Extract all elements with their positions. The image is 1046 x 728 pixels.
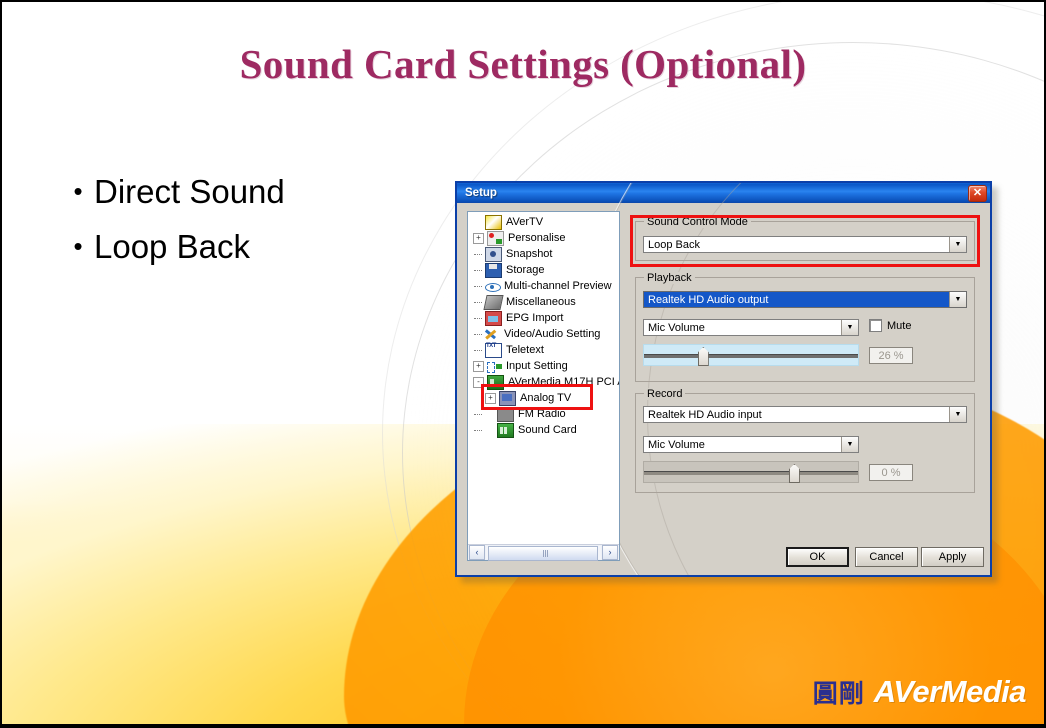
bullet-text: Loop Back: [94, 229, 250, 265]
expander-icon[interactable]: +: [473, 233, 484, 244]
tree-item-storage[interactable]: Storage: [470, 262, 619, 278]
dialog-titlebar[interactable]: Setup ✕: [457, 183, 990, 203]
settings-tree-panel[interactable]: AVerTV + Personalise Snapshot: [467, 211, 620, 561]
group-label: Playback: [644, 272, 695, 284]
slider-track: [644, 354, 858, 358]
chevron-down-icon[interactable]: ▼: [841, 437, 858, 452]
dialog-body: AVerTV + Personalise Snapshot: [457, 203, 990, 577]
scrollbar-thumb[interactable]: [488, 546, 598, 561]
mute-checkbox[interactable]: [869, 319, 882, 332]
settings-tree[interactable]: AVerTV + Personalise Snapshot: [468, 212, 619, 544]
tree-item-label: Snapshot: [506, 248, 552, 260]
logo-chinese-text: 圓剛: [813, 674, 865, 710]
record-channel-dropdown[interactable]: Mic Volume ▼: [643, 436, 859, 453]
apply-button[interactable]: Apply: [921, 547, 984, 567]
chevron-down-icon[interactable]: ▼: [949, 407, 966, 422]
dropdown-value: Mic Volume: [644, 439, 841, 451]
avertv-icon: [485, 215, 502, 230]
chevron-down-icon[interactable]: ▼: [949, 292, 966, 307]
avermedia-logo: 圓剛 AVerMedia: [813, 674, 1026, 710]
personalise-icon: [487, 231, 504, 246]
tree-item-label: Storage: [506, 264, 545, 276]
mute-checkbox-row[interactable]: Mute: [869, 319, 911, 332]
sound-card-icon: [497, 423, 514, 438]
list-item: • Direct Sound: [62, 174, 442, 210]
playback-volume-slider[interactable]: [643, 344, 859, 366]
slide-canvas: Sound Card Settings (Optional) • Direct …: [2, 2, 1044, 724]
sound-card-highlight-box: [481, 384, 593, 410]
snapshot-icon: [485, 247, 502, 262]
ok-button[interactable]: OK: [786, 547, 849, 567]
tree-item-sound-card[interactable]: Sound Card: [470, 422, 619, 438]
group-label: Record: [644, 388, 685, 400]
tree-item-label: AVerTV: [506, 216, 543, 228]
close-icon[interactable]: ✕: [968, 185, 987, 202]
record-device-dropdown[interactable]: Realtek HD Audio input ▼: [643, 406, 967, 423]
storage-icon: [485, 263, 502, 278]
playback-device-dropdown[interactable]: Realtek HD Audio output ▼: [643, 291, 967, 308]
teletext-icon: [485, 343, 502, 358]
tree-item-video-audio-setting[interactable]: Video/Audio Setting: [470, 326, 619, 342]
dropdown-value: Mic Volume: [644, 322, 841, 334]
scrollbar-track[interactable]: [486, 546, 601, 559]
tree-item-snapshot[interactable]: Snapshot: [470, 246, 619, 262]
slider-thumb[interactable]: [789, 464, 800, 483]
tree-horizontal-scrollbar[interactable]: ‹ ›: [468, 544, 619, 560]
dialog-title: Setup: [465, 187, 497, 199]
scroll-left-icon[interactable]: ‹: [469, 545, 485, 560]
tree-item-multi-channel-preview[interactable]: Multi-channel Preview: [470, 278, 619, 294]
page-title: Sound Card Settings (Optional): [2, 40, 1044, 88]
record-volume-value: 0 %: [869, 464, 913, 481]
tree-item-miscellaneous[interactable]: Miscellaneous: [470, 294, 619, 310]
logo-english-text: AVerMedia: [874, 674, 1026, 710]
dropdown-value: Realtek HD Audio output: [644, 294, 949, 306]
expander-icon[interactable]: +: [473, 361, 484, 372]
slider-thumb[interactable]: [698, 347, 709, 366]
tree-item-label: Miscellaneous: [506, 296, 576, 308]
mute-label: Mute: [887, 320, 911, 332]
setup-dialog: Setup ✕ AVerTV + Personalise: [455, 181, 992, 577]
playback-volume-value: 26 %: [869, 347, 913, 364]
miscellaneous-icon: [483, 295, 503, 310]
epg-import-icon: [485, 311, 502, 326]
sound-control-mode-highlight-box: [630, 215, 980, 267]
tree-item-label: Multi-channel Preview: [504, 280, 612, 292]
input-setting-icon: [487, 360, 502, 373]
scrollbar-grip-icon: [543, 550, 544, 557]
dropdown-value: Realtek HD Audio input: [644, 409, 949, 421]
bullet-marker-icon: •: [62, 229, 94, 263]
tree-item-label: Personalise: [508, 232, 565, 244]
tree-item-personalise[interactable]: + Personalise: [470, 230, 619, 246]
scroll-right-icon[interactable]: ›: [602, 545, 618, 560]
bullet-marker-icon: •: [62, 174, 94, 208]
tree-item-label: EPG Import: [506, 312, 563, 324]
bullet-text: Direct Sound: [94, 174, 285, 210]
cancel-button[interactable]: Cancel: [855, 547, 918, 567]
record-volume-slider[interactable]: [643, 461, 859, 483]
bullet-list: • Direct Sound • Loop Back: [62, 174, 442, 284]
slider-track: [644, 471, 858, 475]
tree-item-teletext[interactable]: Teletext: [470, 342, 619, 358]
tree-item-label: Video/Audio Setting: [504, 328, 600, 340]
tree-item-avertv[interactable]: AVerTV: [470, 214, 619, 230]
tree-item-epg-import[interactable]: EPG Import: [470, 310, 619, 326]
tree-item-label: Input Setting: [506, 360, 568, 372]
playback-channel-dropdown[interactable]: Mic Volume ▼: [643, 319, 859, 336]
list-item: • Loop Back: [62, 229, 442, 265]
chevron-down-icon[interactable]: ▼: [841, 320, 858, 335]
eye-icon: [485, 280, 500, 293]
video-audio-icon: [485, 328, 500, 341]
tree-item-input-setting[interactable]: + Input Setting: [470, 358, 619, 374]
tree-item-label: Teletext: [506, 344, 544, 356]
tree-item-label: Sound Card: [518, 424, 577, 436]
